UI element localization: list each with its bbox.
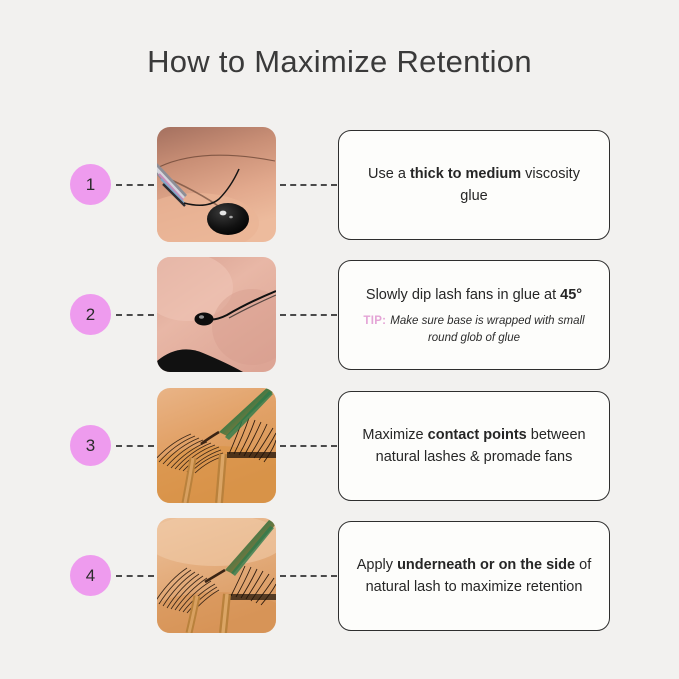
- text-before: Slowly dip lash fans in glue at: [366, 287, 560, 303]
- text-bold: underneath or on the side: [397, 557, 575, 573]
- text-before: Use a: [368, 166, 410, 182]
- step-card-3: Maximize contact points between natural …: [338, 391, 610, 501]
- step-number-label: 1: [86, 175, 95, 195]
- connector-photo-to-card: [280, 184, 337, 186]
- connector-badge-to-photo: [116, 184, 154, 186]
- text-before: Maximize: [362, 427, 427, 443]
- text-bold: thick to medium: [410, 166, 521, 182]
- page-title: How to Maximize Retention: [0, 44, 679, 80]
- step-card-text: Apply underneath or on the side of natur…: [353, 554, 595, 599]
- text-bold: contact points: [428, 427, 527, 443]
- step-number-label: 4: [86, 566, 95, 586]
- step-number-badge-2: 2: [70, 294, 111, 335]
- connector-badge-to-photo: [116, 314, 154, 316]
- step-row: 2: [0, 257, 679, 372]
- step-number-label: 3: [86, 436, 95, 456]
- connector-photo-to-card: [280, 314, 337, 316]
- connector-photo-to-card: [280, 445, 337, 447]
- step-photo-3: [157, 388, 276, 503]
- step-card-text: Use a thick to medium viscosity glue: [353, 163, 595, 208]
- connector-badge-to-photo: [116, 445, 154, 447]
- connector-badge-to-photo: [116, 575, 154, 577]
- step-number-badge-1: 1: [70, 164, 111, 205]
- text-bold: 45°: [560, 287, 582, 303]
- tip-text: Make sure base is wrapped with small rou…: [390, 315, 584, 344]
- step-row: 4: [0, 518, 679, 633]
- step-card-text: Maximize contact points between natural …: [353, 424, 595, 469]
- step-row: 3: [0, 388, 679, 503]
- step-photo-1: [157, 127, 276, 242]
- step-number-badge-3: 3: [70, 425, 111, 466]
- step-number-badge-4: 4: [70, 555, 111, 596]
- step-number-label: 2: [86, 305, 95, 325]
- step-photo-2: [157, 257, 276, 372]
- step-card-text: Slowly dip lash fans in glue at 45°: [366, 284, 582, 306]
- text-before: Apply: [357, 557, 397, 573]
- step-card-2: Slowly dip lash fans in glue at 45° TIP:…: [338, 260, 610, 370]
- connector-photo-to-card: [280, 575, 337, 577]
- infographic-canvas: How to Maximize Retention 1: [0, 0, 679, 679]
- step-card-tip: TIP:Make sure base is wrapped with small…: [353, 313, 595, 346]
- step-row: 1: [0, 127, 679, 242]
- step-card-4: Apply underneath or on the side of natur…: [338, 521, 610, 631]
- step-card-1: Use a thick to medium viscosity glue: [338, 130, 610, 240]
- step-photo-4: [157, 518, 276, 633]
- tip-label: TIP:: [363, 315, 386, 327]
